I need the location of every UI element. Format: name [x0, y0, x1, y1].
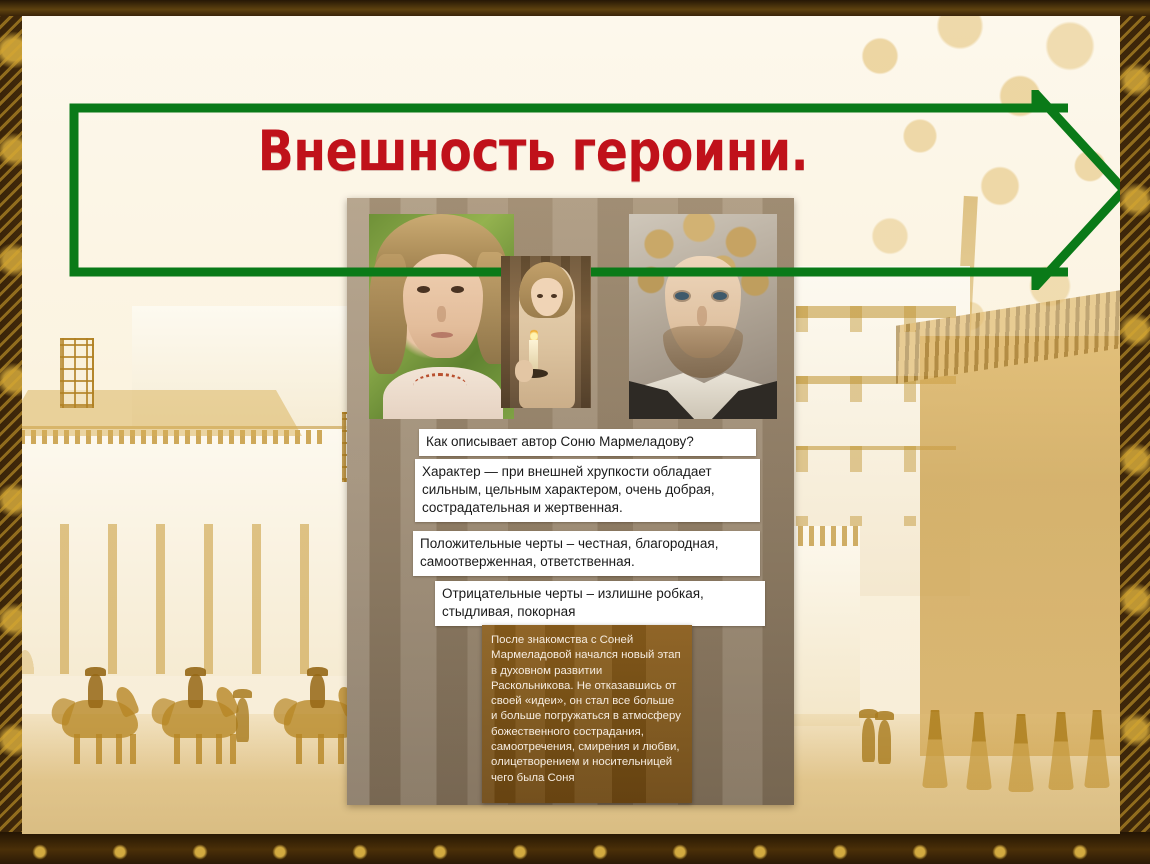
frame-bottom-scrollwork: [0, 832, 1150, 864]
caption-character-description: Характер — при внешней хрупкости обладае…: [415, 459, 760, 522]
photo-sonya-with-candle: [501, 256, 591, 408]
building-window: [60, 338, 94, 408]
summary-text-box: После знакомства с Соней Мармеладовой на…: [482, 625, 692, 803]
page-title: Внешность героини.: [133, 96, 933, 206]
gentleman-figure: [878, 720, 891, 764]
photo-collage: [369, 206, 777, 421]
photo-sonya-closeup: [369, 214, 514, 419]
caption-question: Как описывает автор Соню Мармеладову?: [419, 429, 756, 456]
brick-house: [920, 336, 1120, 756]
caption-negative-traits: Отрицательные черты – излишне робкая, ст…: [435, 581, 765, 626]
caption-positive-traits: Положительные черты – честная, благородн…: [413, 531, 760, 576]
pedestrian-figure: [236, 698, 249, 742]
frame-top-scrollwork: [0, 0, 1150, 16]
slide-canvas: Как описывает автор Соню Мармеладову? Ха…: [22, 16, 1120, 834]
content-panel: Как описывает автор Соню Мармеладову? Ха…: [347, 198, 794, 805]
photo-raskolnikov: [629, 214, 777, 419]
gentleman-figure: [862, 718, 875, 762]
presentation-slide: Как описывает автор Соню Мармеладову? Ха…: [0, 0, 1150, 864]
